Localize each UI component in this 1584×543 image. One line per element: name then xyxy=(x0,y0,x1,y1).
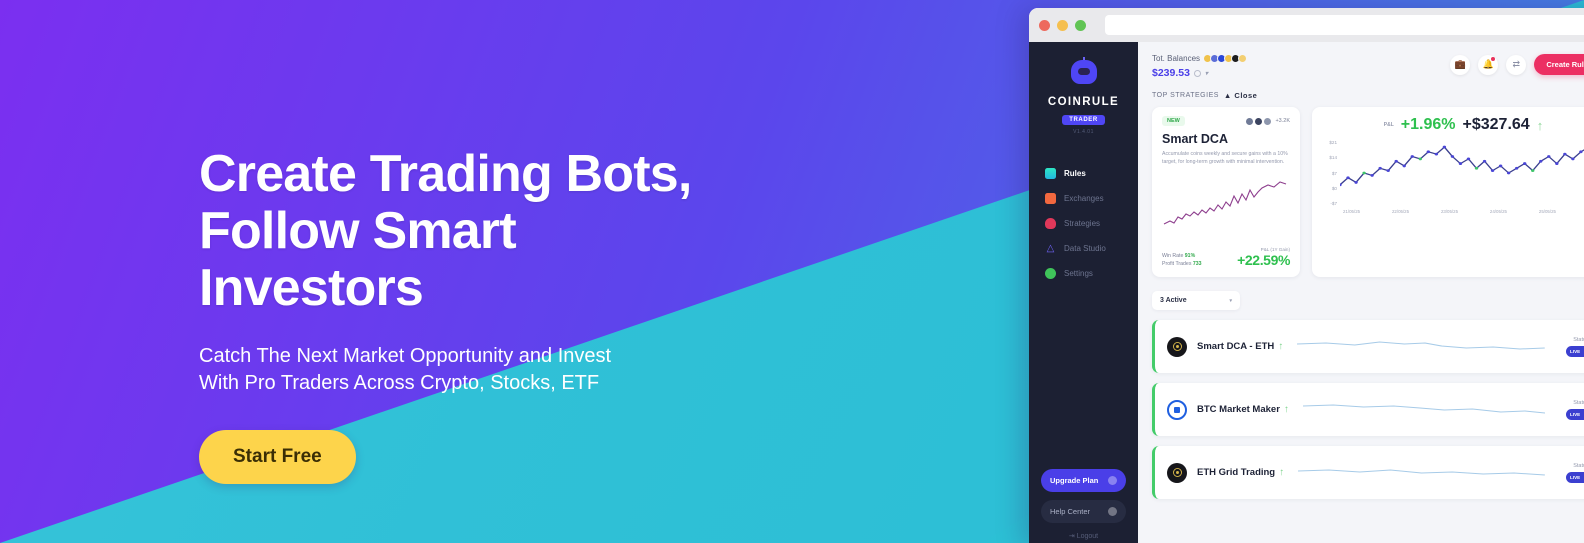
rule-name-text: Smart DCA - ETH xyxy=(1197,341,1274,352)
top-strategies-title: TOP STRATEGIES xyxy=(1152,92,1219,99)
rule-sparkline xyxy=(1303,399,1545,421)
balance-amount-row: $239.53 ▾ xyxy=(1152,67,1247,79)
status-label: Status xyxy=(1559,337,1584,343)
close-window-icon[interactable] xyxy=(1039,20,1050,31)
sidebar-item-label: Settings xyxy=(1064,269,1093,278)
x-tick: 24/05/25 xyxy=(1490,209,1507,214)
followers-group: +3.2K xyxy=(1248,117,1290,126)
rule-sparkline xyxy=(1298,462,1545,484)
btc-icon xyxy=(1167,400,1187,420)
sidebar-item-label: Rules xyxy=(1064,169,1086,178)
y-tick: $7 xyxy=(1322,171,1337,176)
chevron-down-icon: ▾ xyxy=(1229,298,1232,304)
card-title: Smart DCA xyxy=(1162,132,1290,146)
strategy-pin-icon xyxy=(1045,218,1056,229)
headline-line-2: Follow Smart xyxy=(199,202,516,260)
rule-sparkline xyxy=(1297,336,1545,358)
live-toggle[interactable]: LIVE xyxy=(1566,472,1584,483)
card-header: NEW +3.2K xyxy=(1162,116,1290,126)
transfer-icon[interactable]: ⇄ xyxy=(1506,55,1526,75)
upgrade-plan-label: Upgrade Plan xyxy=(1050,476,1098,485)
page-title: Create Trading Bots, Follow Smart Invest… xyxy=(199,146,919,317)
status-cell: Status LIVE xyxy=(1559,463,1584,483)
profit-trades-stat: Profit Trades 733 xyxy=(1162,260,1202,268)
active-filter-dropdown[interactable]: 3 Active ▾ xyxy=(1152,291,1240,310)
eth-icon xyxy=(1167,337,1187,357)
sidebar-item-label: Exchanges xyxy=(1064,194,1104,203)
bell-icon[interactable]: 🔔 xyxy=(1478,55,1498,75)
headline-line-1: Create Trading Bots, xyxy=(199,145,692,203)
card-description: Accumulate coins weekly and secure gains… xyxy=(1162,150,1290,166)
headline-line-3: Investors xyxy=(199,259,423,317)
rule-name: Smart DCA - ETH ↑ xyxy=(1197,341,1283,352)
balance-label: Tot. Balances xyxy=(1152,54,1200,63)
start-free-button[interactable]: Start Free xyxy=(199,430,356,484)
pl-tag: P&L xyxy=(1384,122,1394,128)
app-body: COINRULE TRADER V1.4.01 Rules Exchanges … xyxy=(1029,42,1584,543)
status-cell: Status LIVE xyxy=(1559,337,1584,357)
table-row[interactable]: BTC Market Maker ↑ Status LIVE xyxy=(1152,383,1584,436)
data-studio-icon: △ xyxy=(1045,243,1056,254)
pl-percent: +1.96% xyxy=(1401,116,1456,134)
status-label: Status xyxy=(1559,463,1584,469)
logo-badge: TRADER xyxy=(1062,115,1105,125)
chevron-down-icon[interactable]: ▾ xyxy=(1205,70,1208,77)
card-sparkline-chart xyxy=(1162,172,1290,234)
topbar: Tot. Balances $239.53 ▾ xyxy=(1152,54,1584,79)
avatar xyxy=(1245,117,1254,126)
hero-section: Create Trading Bots, Follow Smart Invest… xyxy=(199,146,919,484)
rule-name-text: BTC Market Maker xyxy=(1197,404,1280,415)
new-badge: NEW xyxy=(1162,116,1185,126)
toggle-label: LIVE xyxy=(1568,349,1580,354)
pl-header: P&L +1.96% +$327.64 ↑ xyxy=(1322,116,1584,134)
sidebar-item-label: Strategies xyxy=(1064,219,1100,228)
main-content: Tot. Balances $239.53 ▾ xyxy=(1138,42,1584,543)
briefcase-icon[interactable]: 💼 xyxy=(1450,55,1470,75)
coin-icons xyxy=(1205,54,1247,63)
card-footer: Win Rate 91% Profit Trades 733 P&L (1Y G… xyxy=(1162,247,1290,268)
sidebar-nav: Rules Exchanges Strategies △ Data Studio… xyxy=(1029,161,1138,286)
create-rule-button[interactable]: Create Rule xyxy=(1534,54,1584,75)
y-tick: -$7 xyxy=(1322,201,1337,206)
card-pl-block: P&L (1Y Gain) +22.59% xyxy=(1237,247,1290,268)
trend-up-icon: ↑ xyxy=(1279,467,1284,478)
top-strategies-header: TOP STRATEGIES ▲ Close xyxy=(1152,91,1584,100)
logout-label: Logout xyxy=(1077,533,1098,540)
sidebar: COINRULE TRADER V1.4.01 Rules Exchanges … xyxy=(1029,42,1138,543)
sidebar-footer: Upgrade Plan Help Center ⇥ Logout xyxy=(1029,469,1138,543)
minimize-window-icon[interactable] xyxy=(1057,20,1068,31)
trend-up-icon: ↑ xyxy=(1278,341,1283,352)
followers-count: +3.2K xyxy=(1275,118,1290,124)
hero-subtitle: Catch The Next Market Opportunity and In… xyxy=(199,343,919,397)
help-icon xyxy=(1108,507,1117,516)
win-rate-label: Win Rate xyxy=(1162,253,1183,259)
toggle-label: LIVE xyxy=(1568,475,1580,480)
avatar xyxy=(1263,117,1272,126)
topbar-actions: 💼 🔔 ⇄ Create Rule xyxy=(1450,54,1584,75)
window-titlebar xyxy=(1029,8,1584,42)
exchange-icon xyxy=(1045,193,1056,204)
y-tick: $21 xyxy=(1322,140,1337,145)
card-stats: Win Rate 91% Profit Trades 733 xyxy=(1162,252,1202,268)
sidebar-item-settings[interactable]: Settings xyxy=(1029,261,1138,286)
coin-icon xyxy=(1238,54,1247,63)
y-tick: $0 xyxy=(1322,186,1337,191)
pl-line-chart xyxy=(1340,140,1584,206)
avatar xyxy=(1254,117,1263,126)
browser-window: COINRULE TRADER V1.4.01 Rules Exchanges … xyxy=(1029,8,1584,543)
create-rule-label: Create Rule xyxy=(1546,60,1584,69)
subtitle-line-1: Catch The Next Market Opportunity and In… xyxy=(199,345,611,367)
pl-body: $21 $14 $7 $0 -$7 xyxy=(1322,140,1584,206)
strategy-cards: NEW +3.2K Smart DCA Accumulate coins wee… xyxy=(1152,107,1584,277)
y-axis-ticks: $21 $14 $7 $0 -$7 xyxy=(1322,140,1340,206)
robot-logo-icon xyxy=(1069,60,1099,90)
profit-trades-value: 733 xyxy=(1193,261,1202,267)
y-tick: $14 xyxy=(1322,155,1337,160)
eth-icon xyxy=(1167,463,1187,483)
rule-name-text: ETH Grid Trading xyxy=(1197,467,1275,478)
sidebar-item-label: Data Studio xyxy=(1064,244,1106,253)
live-toggle[interactable]: LIVE xyxy=(1566,346,1584,357)
logout-button[interactable]: ⇥ Logout xyxy=(1041,532,1126,540)
logo-text: COINRULE xyxy=(1029,96,1138,108)
balance-block: Tot. Balances $239.53 ▾ xyxy=(1152,54,1247,79)
close-label: Close xyxy=(1234,91,1257,100)
app-logo: COINRULE TRADER V1.4.01 xyxy=(1029,60,1138,135)
toggle-label: LIVE xyxy=(1568,412,1580,417)
rule-name: BTC Market Maker ↑ xyxy=(1197,404,1289,415)
smart-dca-card[interactable]: NEW +3.2K Smart DCA Accumulate coins wee… xyxy=(1152,107,1300,277)
sidebar-item-rules[interactable]: Rules xyxy=(1029,161,1138,186)
table-row[interactable]: Smart DCA - ETH ↑ Status LIVE xyxy=(1152,320,1584,373)
help-center-label: Help Center xyxy=(1050,507,1090,516)
balance-label-row: Tot. Balances xyxy=(1152,54,1247,63)
card-pl-value: +22.59% xyxy=(1237,252,1290,268)
balance-amount: $239.53 xyxy=(1152,67,1190,79)
bar-chart-icon xyxy=(1045,168,1056,179)
chevron-right-icon xyxy=(1108,476,1117,485)
refresh-icon[interactable] xyxy=(1194,70,1201,77)
x-tick: 21/05/25 xyxy=(1343,209,1360,214)
x-tick: 22/05/25 xyxy=(1392,209,1409,214)
sidebar-item-data-studio[interactable]: △ Data Studio xyxy=(1029,236,1138,261)
profit-trades-label: Profit Trades xyxy=(1162,261,1191,267)
win-rate-value: 91% xyxy=(1185,253,1195,259)
x-tick: 23/05/25 xyxy=(1441,209,1458,214)
url-bar[interactable] xyxy=(1105,15,1584,35)
table-row[interactable]: ETH Grid Trading ↑ Status LIVE xyxy=(1152,446,1584,499)
x-axis-ticks: 21/05/25 22/05/25 23/05/25 24/05/25 25/0… xyxy=(1322,209,1584,214)
x-tick: 25/05/25 xyxy=(1539,209,1556,214)
active-filter-label: 3 Active xyxy=(1160,297,1187,304)
win-rate-stat: Win Rate 91% xyxy=(1162,252,1202,260)
status-label: Status xyxy=(1559,400,1584,406)
gear-icon xyxy=(1045,268,1056,279)
trend-up-icon: ↑ xyxy=(1284,404,1289,415)
subtitle-line-2: With Pro Traders Across Crypto, Stocks, … xyxy=(199,372,599,394)
collapse-strategies-button[interactable]: ▲ Close xyxy=(1224,91,1257,100)
maximize-window-icon[interactable] xyxy=(1075,20,1086,31)
pl-chart-panel: P&L +1.96% +$327.64 ↑ $21 $14 $7 $0 -$7 xyxy=(1312,107,1584,277)
trend-up-icon: ↑ xyxy=(1537,118,1544,133)
sidebar-item-exchanges[interactable]: Exchanges xyxy=(1029,186,1138,211)
help-center-button[interactable]: Help Center xyxy=(1041,500,1126,523)
upgrade-plan-button[interactable]: Upgrade Plan xyxy=(1041,469,1126,492)
pl-absolute: +$327.64 xyxy=(1463,116,1530,134)
status-cell: Status LIVE xyxy=(1559,400,1584,420)
live-toggle[interactable]: LIVE xyxy=(1566,409,1584,420)
rule-name: ETH Grid Trading ↑ xyxy=(1197,467,1284,478)
version-label: V1.4.01 xyxy=(1029,129,1138,135)
rules-list: Smart DCA - ETH ↑ Status LIVE xyxy=(1152,320,1584,499)
sidebar-item-strategies[interactable]: Strategies xyxy=(1029,211,1138,236)
